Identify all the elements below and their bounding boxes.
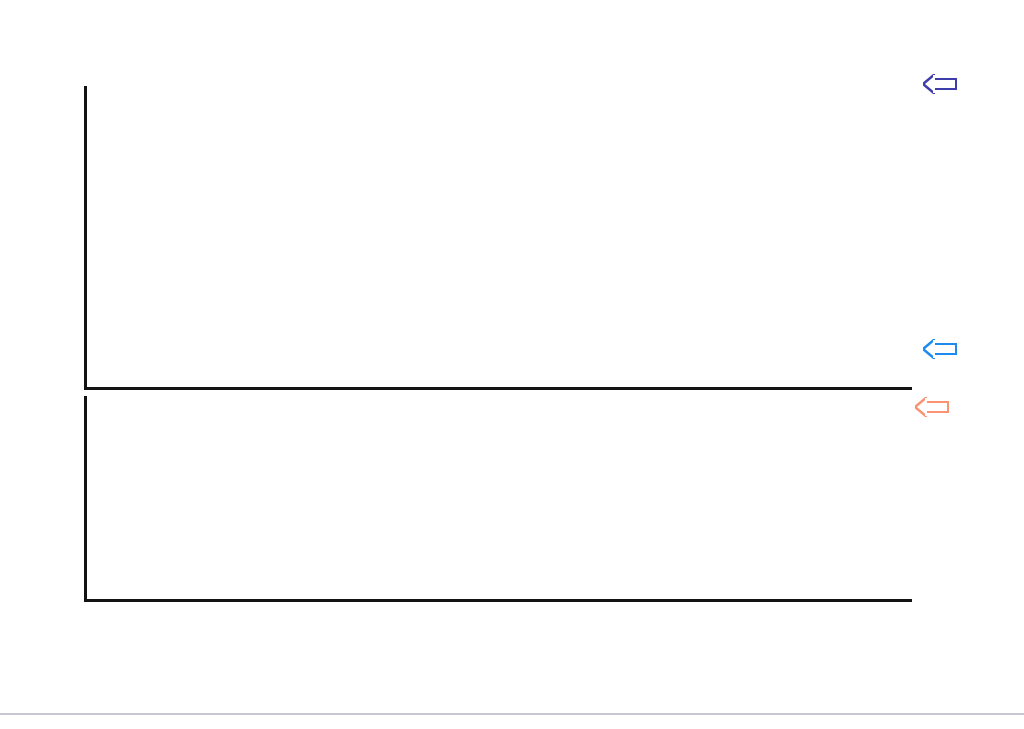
callout-emigrants [933, 343, 957, 355]
bottom-panel-y-ticks [0, 0, 78, 729]
top-panel-y-axis-line [84, 86, 87, 390]
appcast-logo [802, 673, 843, 718]
callout-nib-immigrants [923, 74, 935, 94]
callout-nib-emigrants [923, 339, 935, 359]
callout-nib-net-inflow [915, 397, 927, 417]
net-inflow-bars [87, 396, 911, 599]
callout-immigrants [933, 78, 957, 90]
footer-divider [0, 713, 1024, 715]
callout-net-inflow [925, 401, 949, 413]
top-panel-x-axis-line [84, 387, 912, 390]
line-series-layer [0, 0, 1024, 729]
bottom-panel-x-axis-line [84, 599, 912, 602]
appcast-logo-dots-icon [802, 673, 835, 718]
chart-canvas [0, 0, 1024, 729]
